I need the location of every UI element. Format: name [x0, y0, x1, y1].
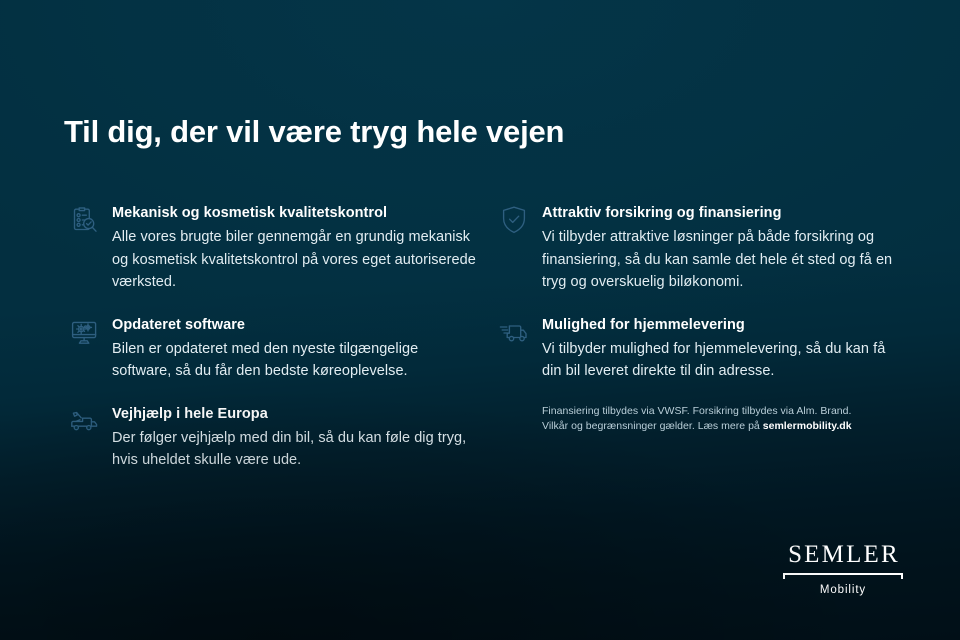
features-column-right: Attraktiv forsikring og finansiering Vi …: [486, 203, 916, 493]
logo-subtext: Mobility: [782, 583, 904, 598]
feature-description: Vi tilbyder mulighed for hjemmelevering,…: [542, 338, 908, 383]
feature-title: Mekanisk og kosmetisk kvalitetskontrol: [112, 203, 478, 224]
tow-truck-icon: [56, 404, 112, 449]
monitor-gears-icon: [56, 315, 112, 360]
feature-text: Opdateret software Bilen er opdateret me…: [112, 315, 486, 383]
disclaimer-line-2: Vilkår og begrænsninger gælder. Læs mere…: [542, 419, 916, 435]
feature-text: Vejhjælp i hele Europa Der følger vejhjæ…: [112, 404, 486, 472]
shield-check-icon: [486, 203, 542, 248]
features-column-left: Mekanisk og kosmetisk kvalitetskontrol A…: [56, 203, 486, 493]
feature-description: Alle vores brugte biler gennemgår en gru…: [112, 226, 478, 294]
promo-slide: Til dig, der vil være tryg hele vejen: [0, 0, 960, 640]
disclaimer-line-2-text: Vilkår og begrænsninger gælder. Læs mere…: [542, 420, 763, 432]
feature-description: Bilen er opdateret med den nyeste tilgæn…: [112, 338, 478, 383]
feature-title: Vejhjælp i hele Europa: [112, 404, 478, 425]
semler-mobility-logo: SEMLER Mobility: [782, 541, 904, 598]
feature-roadside-assistance: Vejhjælp i hele Europa Der følger vejhjæ…: [56, 404, 486, 472]
logo-divider-bar: [783, 573, 903, 575]
feature-insurance-financing: Attraktiv forsikring og finansiering Vi …: [486, 203, 916, 294]
feature-text: Mekanisk og kosmetisk kvalitetskontrol A…: [112, 203, 486, 294]
feature-description: Der følger vejhjælp med din bil, så du k…: [112, 427, 478, 472]
delivery-truck-icon: [486, 315, 542, 360]
disclaimer: Finansiering tilbydes via VWSF. Forsikri…: [486, 404, 916, 435]
features-columns: Mekanisk og kosmetisk kvalitetskontrol A…: [56, 203, 916, 493]
feature-title: Attraktiv forsikring og finansiering: [542, 203, 908, 224]
logo-divider-cap-left: [783, 573, 785, 579]
feature-description: Vi tilbyder attraktive løsninger på både…: [542, 226, 908, 294]
disclaimer-line-1: Finansiering tilbydes via VWSF. Forsikri…: [542, 404, 916, 420]
clipboard-checklist-magnifier-icon: [56, 203, 112, 248]
feature-text: Attraktiv forsikring og finansiering Vi …: [542, 203, 916, 294]
feature-text: Mulighed for hjemmelevering Vi tilbyder …: [542, 315, 916, 383]
logo-divider: [783, 573, 903, 580]
feature-quality-control: Mekanisk og kosmetisk kvalitetskontrol A…: [56, 203, 486, 294]
disclaimer-link[interactable]: semlermobility.dk: [763, 420, 852, 432]
logo-wordmark: SEMLER: [782, 541, 904, 569]
feature-updated-software: Opdateret software Bilen er opdateret me…: [56, 315, 486, 383]
page-title: Til dig, der vil være tryg hele vejen: [64, 113, 564, 151]
feature-title: Opdateret software: [112, 315, 478, 336]
feature-home-delivery: Mulighed for hjemmelevering Vi tilbyder …: [486, 315, 916, 383]
feature-title: Mulighed for hjemmelevering: [542, 315, 908, 336]
logo-divider-cap-right: [901, 573, 903, 579]
